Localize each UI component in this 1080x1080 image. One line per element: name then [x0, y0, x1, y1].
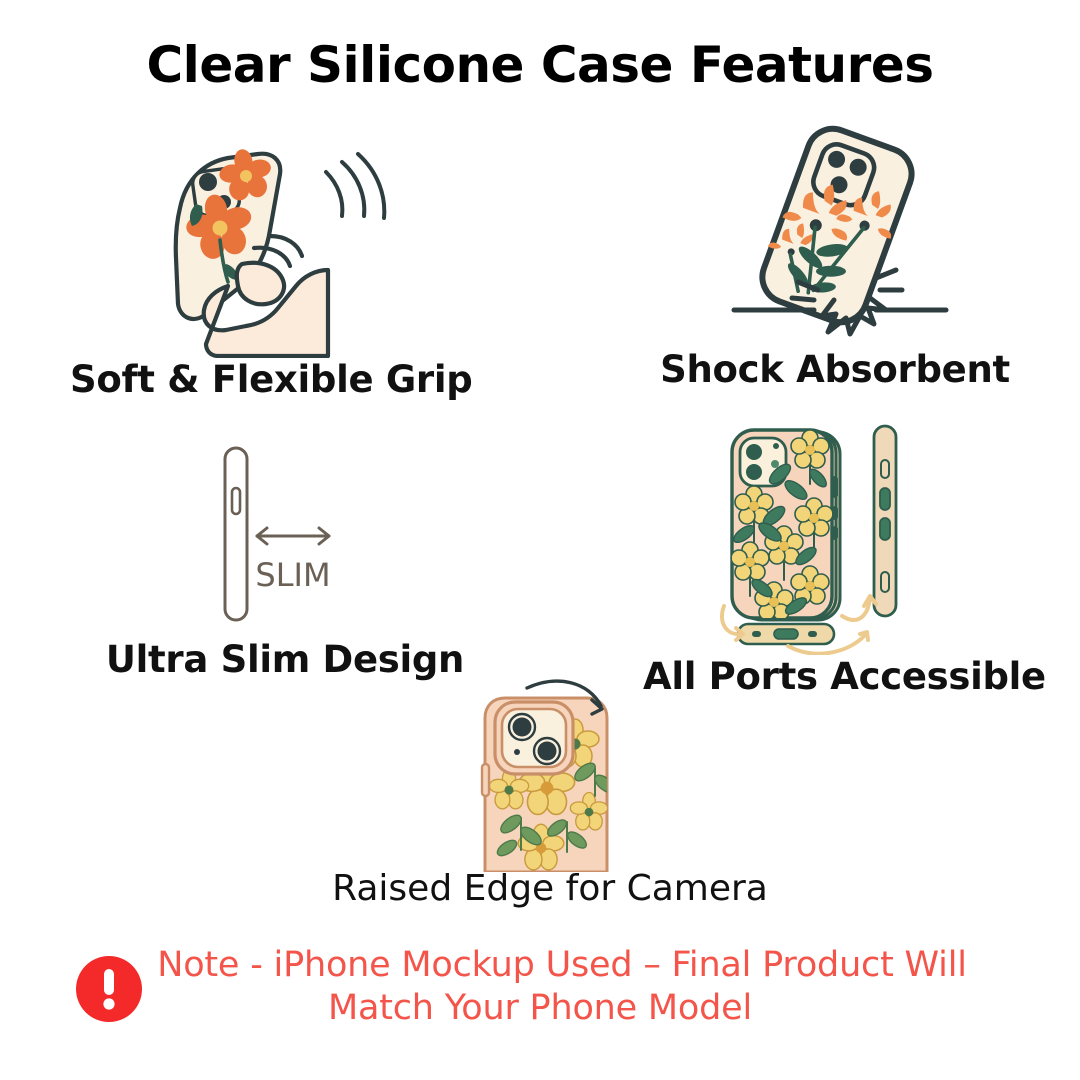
- feature-label-soft-flexible-grip: Soft & Flexible Grip: [70, 358, 450, 401]
- phone-side-profile-slim-icon: SLIM: [195, 440, 375, 630]
- note-line-2: Match Your Phone Model: [0, 987, 1080, 1030]
- product-feature-infographic: Clear Silicone Case Features: [0, 0, 1080, 1080]
- feature-all-ports-accessible: All Ports Accessible: [718, 420, 948, 655]
- feature-label-shock-absorbent: Shock Absorbent: [645, 348, 1025, 391]
- phone-ports-side-bottom-icon: [718, 420, 948, 655]
- feature-raised-edge-camera: Raised Edge for Camera: [455, 672, 645, 867]
- feature-label-ultra-slim-design: Ultra Slim Design: [90, 638, 480, 681]
- hand-flexing-phone-case-icon: [120, 118, 400, 358]
- feature-label-all-ports-accessible: All Ports Accessible: [643, 655, 1033, 698]
- page-title: Clear Silicone Case Features: [0, 36, 1080, 94]
- phone-impact-drop-icon: [710, 118, 960, 348]
- mockup-disclaimer-note: Note - iPhone Mockup Used – Final Produc…: [0, 944, 1080, 1029]
- feature-label-raised-edge-camera: Raised Edge for Camera: [295, 868, 805, 909]
- feature-soft-flexible-grip: Soft & Flexible Grip: [120, 118, 400, 358]
- note-line-1: Note - iPhone Mockup Used – Final Produc…: [0, 944, 1080, 987]
- feature-ultra-slim-design: SLIM Ultra Slim Design: [195, 440, 375, 630]
- feature-shock-absorbent: Shock Absorbent: [710, 118, 960, 348]
- slim-annotation-label: SLIM: [255, 556, 330, 594]
- phone-raised-camera-bump-icon: [455, 672, 645, 872]
